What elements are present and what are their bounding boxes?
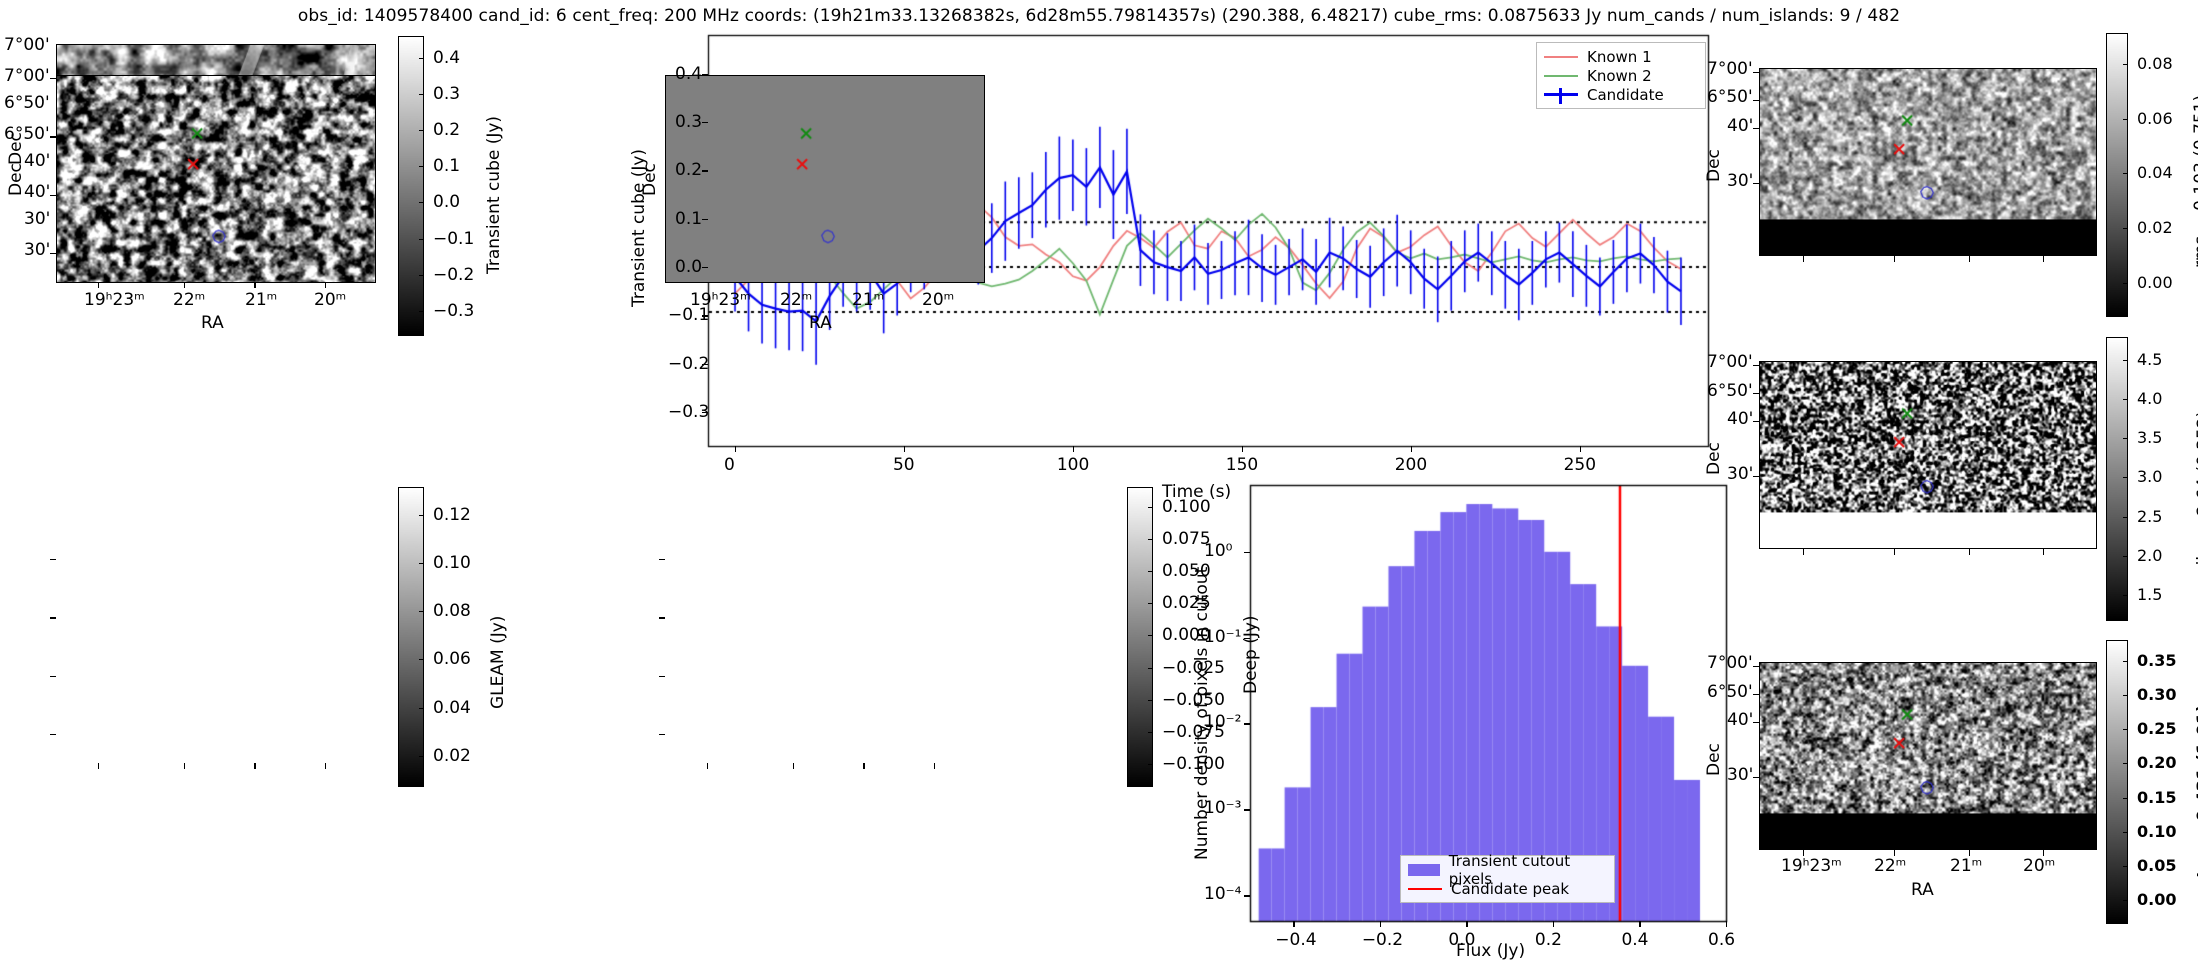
lightcurve-xtickmark-5 [1580,446,1581,452]
colorbar-spike-tick-5: 2.0 [2137,546,2162,565]
deep-cutout-xtickmark-1 [184,763,185,769]
colorbar-rms-tick-1: 0.06 [2137,109,2173,128]
colorbar-gleam-tickmark-0 [419,515,424,516]
deep-ytick-3: 30' [24,240,50,260]
legend-swatch-cutout-pixels [1408,864,1440,876]
tcg-xtick-1: 22ᵐ [1874,856,1906,876]
gleam-xtick-1: 22ᵐ [780,290,812,310]
legend-row-known2: Known 2 [1544,66,1698,85]
colorbar-tcg-gradient [2106,640,2128,924]
histogram-xtickmark-3 [1553,921,1554,927]
colorbar-tcg-tick-3: 0.20 [2137,753,2176,772]
lightcurve-xtick-4: 200 [1395,455,1427,475]
histogram-ytickmark-2 [1244,723,1250,724]
colorbar-transient: 0.40.30.20.10.0−0.1−0.2−0.3 Transient cu… [398,36,424,336]
colorbar-transient-tick-7: −0.3 [433,301,474,321]
colorbar-transient-tick-0: 0.4 [433,48,460,68]
tcg-ytick-3: 30' [1727,765,1753,785]
spike-map-xtickmark-3 [2043,549,2044,555]
spike-map-xtickmark-1 [1894,549,1895,555]
histogram-ytickmark-1 [1244,638,1250,639]
tcg-map-xtickmark-0 [1803,850,1804,856]
colorbar-transient-tickmark-6 [419,275,424,276]
histogram-ytick-2: 10⁻² [1204,712,1241,732]
lightcurve-xtickmark-1 [904,446,905,452]
colorbar-deep-tickmark-6 [1148,700,1153,701]
histogram-ytick-1: 10⁻¹ [1204,627,1241,647]
rms-ytick-2: 40' [1727,116,1753,136]
colorbar-deep-tickmark-3 [1148,603,1153,604]
colorbar-deep-tickmark-8 [1148,764,1153,765]
gleam-xtick-2: 21ᵐ [852,290,884,310]
legend-line-candidate [1544,93,1578,96]
colorbar-tcg: 0.350.300.250.200.150.100.050.00 tcg = 0… [2106,640,2128,924]
histogram-xtickmark-4 [1639,921,1640,927]
rms-ytick-1: 6°50' [1707,87,1753,107]
colorbar-gleam-tickmark-3 [419,659,424,660]
gleam-cutout-xtickmark-3 [934,763,935,769]
colorbar-tcg-tickmark-4 [2123,798,2128,799]
colorbar-gleam-label: GLEAM (Jy) [488,616,508,709]
legend-line-candidate-peak [1408,888,1442,890]
gleam-cutout-ytickmark-1 [659,617,665,618]
deep-xtick-2: 21ᵐ [245,290,277,310]
lightcurve-xtickmark-2 [1073,446,1074,452]
tcg-map-ytickmark-3 [1753,777,1759,778]
legend-line-known2 [1544,75,1578,77]
transient-cutout-ytickmark-3 [50,253,56,254]
rms-ytick-3: 30' [1727,171,1753,191]
colorbar-gleam: 0.120.100.080.060.040.02 GLEAM (Jy) [398,487,424,787]
tcg-ytick-1: 6°50' [1707,682,1753,702]
colorbar-spike-label: spike = 2.64 (0.352) [2194,411,2198,585]
rms-ylabel: Dec [1704,149,1724,182]
legend-label-candidate: Candidate [1587,86,1664,104]
colorbar-transient-tick-2: 0.2 [433,120,460,140]
tcg-xlabel: RA [1911,880,1934,900]
transient-cutout-xtickmark-2 [254,282,255,288]
colorbar-tcg-tickmark-6 [2123,866,2128,867]
deep-cutout-ytickmark-1 [50,617,56,618]
transient-cutout-xtickmark-0 [98,282,99,288]
lightcurve-ytick-2: 0.2 [675,160,702,180]
colorbar-transient-tick-6: −0.2 [433,265,474,285]
colorbar-tcg-tick-1: 0.30 [2137,685,2176,704]
colorbar-rms-tick-2: 0.04 [2137,163,2173,182]
colorbar-deep-tickmark-7 [1148,732,1153,733]
deep-xtick-3: 20ᵐ [314,290,346,310]
colorbar-deep-tickmark-4 [1148,635,1153,636]
lightcurve-ytick-5: −0.1 [668,305,709,325]
colorbar-rms-tickmark-4 [2123,283,2128,284]
legend-label-candidate-peak: Candidate peak [1451,880,1569,898]
lightcurve-xtick-2: 100 [1057,455,1089,475]
lightcurve-xtickmark-0 [735,446,736,452]
colorbar-tcg-tickmark-1 [2123,695,2128,696]
colorbar-transient-tickmark-0 [419,58,424,59]
spike-ytick-0: 7°00' [1707,352,1753,372]
histogram-xtick-2: 0.0 [1448,930,1475,950]
lightcurve-xtick-1: 50 [893,455,915,475]
colorbar-deep: 0.1000.0750.0500.0250.000−0.025−0.050−0.… [1127,487,1153,787]
lightcurve-ytick-6: −0.2 [668,354,709,374]
lightcurve-xtickmark-4 [1411,446,1412,452]
gleam-cutout-image[interactable] [665,75,985,283]
colorbar-deep-tick-0: 0.100 [1162,497,1211,517]
lightcurve-ytickmark-0 [702,74,708,75]
lightcurve-xtick-0: 0 [724,455,735,475]
spike-map-ytickmark-3 [1753,476,1759,477]
histogram-xtickmark-0 [1293,921,1294,927]
histogram-ytickmark-0 [1244,552,1250,553]
gleam-cutout-ytickmark-3 [659,734,665,735]
transient-cutout-xtickmark-1 [184,282,185,288]
lightcurve-ytickmark-2 [702,170,708,171]
colorbar-transient-tickmark-2 [419,130,424,131]
colorbar-spike-tickmark-2 [2123,438,2128,439]
legend-label-known2: Known 2 [1587,67,1652,85]
colorbar-transient-gradient [398,36,424,336]
deep-cutout-xtickmark-3 [325,763,326,769]
colorbar-gleam-tickmark-2 [419,611,424,612]
spike-map-xtickmark-2 [1969,549,1970,555]
tcg-xtick-3: 20ᵐ [2023,856,2055,876]
rms-map-xtickmark-0 [1803,256,1804,262]
transient-ytick-2: 40' [24,151,50,171]
lightcurve-ytick-3: 0.1 [675,209,702,229]
transient-ytick-1: 6°50' [4,93,50,113]
colorbar-transient-tick-3: 0.1 [433,156,460,176]
tcg-xtick-2: 21ᵐ [1950,856,1982,876]
colorbar-rms-tickmark-2 [2123,173,2128,174]
gleam-cutout-xtickmark-1 [793,763,794,769]
colorbar-deep-tickmark-5 [1148,668,1153,669]
colorbar-deep-tickmark-1 [1148,539,1153,540]
histogram-ytickmark-4 [1244,895,1250,896]
histogram-ytick-3: 10⁻³ [1204,798,1241,818]
histogram-xtick-0: −0.4 [1275,930,1316,950]
colorbar-deep-tickmark-2 [1148,571,1153,572]
colorbar-rms-tick-0: 0.08 [2137,54,2173,73]
colorbar-spike: 4.54.03.53.02.52.01.5 spike = 2.64 (0.35… [2106,337,2128,621]
gleam-cutout-ytickmark-2 [659,676,665,677]
colorbar-spike-tickmark-1 [2123,399,2128,400]
rms-map-ytickmark-1 [1753,100,1759,101]
colorbar-spike-tick-0: 4.5 [2137,350,2162,369]
histogram-ytick-0: 10⁰ [1204,541,1232,561]
transient-cutout-ytickmark-2 [50,195,56,196]
colorbar-rms-tick-3: 0.02 [2137,218,2173,237]
histogram-xtickmark-1 [1380,921,1381,927]
colorbar-transient-tick-1: 0.3 [433,84,460,104]
colorbar-transient-tickmark-3 [419,166,424,167]
spike-map-image[interactable] [1759,361,2097,549]
deep-ylabel: Dec [6,163,26,196]
gleam-ylabel: Dec [640,163,660,196]
colorbar-tcg-tick-5: 0.10 [2137,822,2176,841]
spike-ytick-2: 40' [1727,409,1753,429]
legend-row-known1: Known 1 [1544,47,1698,66]
lightcurve-xtick-5: 250 [1564,455,1596,475]
transient-ytick-3: 30' [24,209,50,229]
histogram-xtick-5: 0.6 [1708,930,1735,950]
spike-ylabel: Dec [1704,442,1724,475]
colorbar-spike-tickmark-6 [2123,595,2128,596]
gleam-xtick-3: 20ᵐ [922,290,954,310]
legend-row-candidate: Candidate [1544,85,1698,104]
colorbar-spike-gradient [2106,337,2128,621]
colorbar-gleam-tick-0: 0.12 [433,505,471,525]
colorbar-rms-tick-4: 0.00 [2137,273,2173,292]
colorbar-spike-tickmark-3 [2123,477,2128,478]
colorbar-spike-tick-2: 3.5 [2137,428,2162,447]
histogram-xtick-4: 0.4 [1621,930,1648,950]
colorbar-gleam-tickmark-4 [419,708,424,709]
lightcurve-ytickmark-1 [702,122,708,123]
transient-ytick-0: 7°00' [4,35,50,55]
legend-row-cutout-pixels: Transient cutout pixels [1408,860,1607,879]
transient-cutout-ytickmark-0 [50,78,56,79]
colorbar-rms-label: rms = 0.103 (0.751) [2191,95,2198,268]
colorbar-tcg-tickmark-2 [2123,729,2128,730]
legend-label-known1: Known 1 [1587,48,1652,66]
lightcurve-legend: Known 1 Known 2 Candidate [1536,42,1706,109]
lightcurve-ytickmark-4 [702,267,708,268]
deep-ytick-1: 6°50' [4,124,50,144]
colorbar-spike-tickmark-5 [2123,556,2128,557]
deep-cutout-ytickmark-0 [50,559,56,560]
spike-ytick-3: 30' [1727,464,1753,484]
histogram-xtickmark-2 [1466,921,1467,927]
spike-map-xtickmark-0 [1803,549,1804,555]
colorbar-tcg-tick-2: 0.25 [2137,719,2176,738]
colorbar-deep-gradient [1127,487,1153,787]
rms-ytick-0: 7°00' [1707,59,1753,79]
tcg-xtick-0: 19ʰ23ᵐ [1781,856,1842,876]
rms-map-xtickmark-2 [1969,256,1970,262]
colorbar-tcg-tickmark-0 [2123,661,2128,662]
transient-cutout-ytickmark-1 [50,136,56,137]
spike-map-ytickmark-1 [1753,393,1759,394]
rms-map-image[interactable] [1759,68,2097,256]
lightcurve-ytick-7: −0.3 [668,402,709,422]
histogram-legend: Transient cutout pixels Candidate peak [1400,855,1615,903]
colorbar-tcg-tick-4: 0.15 [2137,788,2176,807]
histogram-xtickmark-5 [1726,921,1727,927]
colorbar-spike-tickmark-0 [2123,360,2128,361]
colorbar-spike-tick-4: 2.5 [2137,507,2162,526]
gleam-cutout-xtickmark-0 [707,763,708,769]
colorbar-transient-tickmark-1 [419,94,424,95]
lightcurve-ytick-4: 0.0 [675,257,702,277]
tcg-map-ytickmark-1 [1753,694,1759,695]
colorbar-gleam-tick-4: 0.04 [433,698,471,718]
colorbar-gleam-tickmark-5 [419,756,424,757]
tcg-map-xtickmark-1 [1894,850,1895,856]
tcg-map-image[interactable] [1759,662,2097,850]
colorbar-spike-tick-1: 4.0 [2137,389,2162,408]
tcg-ytick-0: 7°00' [1707,653,1753,673]
colorbar-rms: 0.080.060.040.020.00 rms = 0.103 (0.751) [2106,33,2128,317]
colorbar-tcg-tickmark-7 [2123,900,2128,901]
colorbar-tcg-tick-7: 0.00 [2137,890,2176,909]
colorbar-gleam-tickmark-1 [419,563,424,564]
deep-cutout-ytickmark-3 [50,734,56,735]
colorbar-gleam-gradient [398,487,424,787]
deep-xlabel: RA [201,313,224,333]
deep-xtick-1: 22ᵐ [173,290,205,310]
colorbar-gleam-tick-2: 0.08 [433,601,471,621]
deep-cutout-image[interactable] [56,75,376,283]
rms-map-xtickmark-3 [2043,256,2044,262]
colorbar-tcg-tick-0: 0.35 [2137,651,2176,670]
lightcurve-ytickmark-3 [702,219,708,220]
spike-map-ytickmark-0 [1753,365,1759,366]
histogram-xtick-3: 0.2 [1535,930,1562,950]
rms-map-ytickmark-3 [1753,183,1759,184]
lightcurve-ytick-1: 0.3 [675,112,702,132]
tcg-map-ytickmark-0 [1753,666,1759,667]
colorbar-tcg-label: tcg = 0.431 (1.01) [2194,704,2198,878]
gleam-cutout-ytickmark-0 [659,559,665,560]
rms-map-ytickmark-2 [1753,128,1759,129]
lightcurve-xtickmark-3 [1242,446,1243,452]
histogram-ytickmark-3 [1244,809,1250,810]
tcg-map-xtickmark-2 [1969,850,1970,856]
deep-ytick-2: 40' [24,182,50,202]
legend-line-known1 [1544,56,1578,58]
deep-xtick-0: 19ʰ23ᵐ [84,290,145,310]
colorbar-transient-tickmark-7 [419,311,424,312]
colorbar-gleam-tick-3: 0.06 [433,649,471,669]
page-title: obs_id: 1409578400 cand_id: 6 cent_freq:… [0,6,2198,26]
tcg-ytick-2: 40' [1727,710,1753,730]
lightcurve-ytick-0: 0.4 [675,64,702,84]
colorbar-rms-tickmark-1 [2123,119,2128,120]
colorbar-gleam-tick-5: 0.02 [433,746,471,766]
colorbar-transient-tick-4: 0.0 [433,192,460,212]
colorbar-rms-tickmark-3 [2123,228,2128,229]
colorbar-rms-tickmark-0 [2123,64,2128,65]
spike-ytick-1: 6°50' [1707,381,1753,401]
deep-cutout-xtickmark-0 [98,763,99,769]
gleam-xlabel: RA [809,313,832,333]
colorbar-gleam-tick-1: 0.10 [433,553,471,573]
spike-map-ytickmark-2 [1753,421,1759,422]
colorbar-transient-tickmark-4 [419,202,424,203]
colorbar-spike-tick-3: 3.0 [2137,467,2162,486]
colorbar-tcg-tickmark-5 [2123,832,2128,833]
gleam-cutout-xtickmark-2 [863,763,864,769]
deep-ytick-0: 7°00' [4,66,50,86]
histogram-xtick-1: −0.2 [1362,930,1403,950]
colorbar-transient-tickmark-5 [419,239,424,240]
deep-cutout-xtickmark-2 [254,763,255,769]
deep-cutout-ytickmark-2 [50,676,56,677]
tcg-map-ytickmark-2 [1753,722,1759,723]
tcg-map-xtickmark-3 [2043,850,2044,856]
colorbar-spike-tick-6: 1.5 [2137,585,2162,604]
rms-map-ytickmark-0 [1753,72,1759,73]
transient-cutout-xtickmark-3 [325,282,326,288]
colorbar-transient-tick-5: −0.1 [433,229,474,249]
lightcurve-xtick-3: 150 [1226,455,1258,475]
histogram-ytick-4: 10⁻⁴ [1204,884,1241,904]
colorbar-tcg-tickmark-3 [2123,763,2128,764]
colorbar-transient-label: Transient cube (Jy) [484,116,504,274]
rms-map-xtickmark-1 [1894,256,1895,262]
colorbar-rms-gradient [2106,33,2128,317]
colorbar-tcg-tick-6: 0.05 [2137,856,2176,875]
colorbar-spike-tickmark-4 [2123,517,2128,518]
colorbar-deep-tickmark-0 [1148,507,1153,508]
tcg-ylabel: Dec [1704,743,1724,776]
